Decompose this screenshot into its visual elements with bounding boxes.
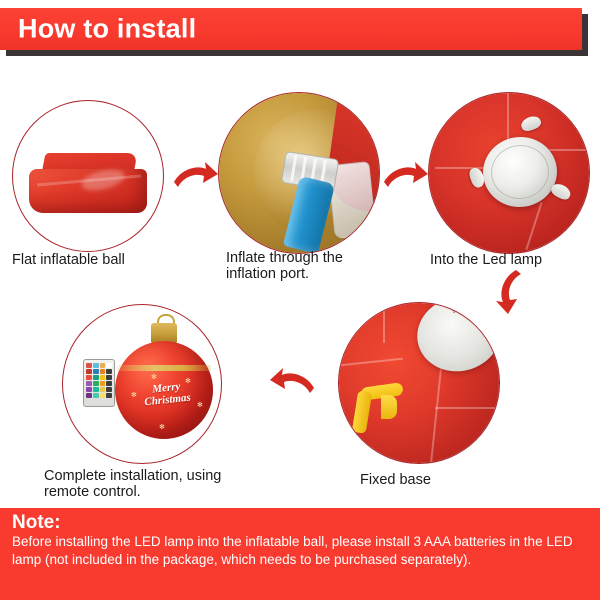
snowflake-icon: ✻	[159, 423, 165, 431]
arrow-right-icon	[382, 160, 430, 200]
remote-color-key[interactable]	[106, 393, 112, 398]
lamp-rohs-label: RoHS	[445, 302, 469, 348]
remote-color-key[interactable]	[86, 363, 92, 368]
flat-inflatable-ball-illustration	[29, 153, 147, 215]
step-4-caption: Complete installation, using remote cont…	[44, 468, 274, 500]
remote-color-key[interactable]	[106, 369, 112, 374]
base-seam	[507, 93, 509, 141]
note-title: Note:	[12, 512, 61, 534]
step-2-caption: Inflate through the inflation port.	[226, 250, 406, 282]
remote-key-grid[interactable]	[86, 363, 112, 398]
remote-color-key[interactable]	[106, 381, 112, 386]
remote-color-key[interactable]	[93, 381, 99, 386]
step-3-caption: Into the Led lamp	[430, 252, 600, 268]
step-2-image	[218, 92, 380, 254]
header-bar: How to install	[0, 8, 582, 50]
remote-color-key[interactable]	[100, 387, 106, 392]
remote-color-key[interactable]	[100, 375, 106, 380]
yellow-stake-anchor	[351, 385, 405, 431]
step-1-image	[12, 100, 164, 252]
remote-color-key[interactable]	[100, 393, 106, 398]
ornament-gold-cap	[151, 323, 177, 343]
remote-color-key[interactable]	[93, 369, 99, 374]
remote-color-key[interactable]	[86, 381, 92, 386]
base-seam	[549, 149, 589, 151]
remote-color-key[interactable]	[106, 363, 112, 368]
stake-leg	[352, 390, 372, 434]
arrow-step3-to-step5	[496, 268, 536, 321]
remote-color-key[interactable]	[106, 375, 112, 380]
remote-color-key[interactable]	[106, 387, 112, 392]
stake-hook	[381, 395, 397, 419]
remote-color-key[interactable]	[86, 375, 92, 380]
remote-color-key[interactable]	[86, 393, 92, 398]
step-3-image	[428, 92, 590, 254]
remote-color-key[interactable]	[86, 387, 92, 392]
note-banner: Note: Before installing the LED lamp int…	[0, 508, 600, 600]
arrow-step1-to-step2	[172, 160, 220, 205]
step-1-caption: Flat inflatable ball	[12, 252, 202, 268]
remote-color-key[interactable]	[93, 375, 99, 380]
led-lamp-ring	[488, 141, 553, 203]
remote-control[interactable]	[83, 359, 115, 407]
page-title: How to install	[18, 14, 196, 45]
header-banner: How to install	[0, 8, 588, 50]
remote-color-key[interactable]	[86, 369, 92, 374]
arrow-down-icon	[496, 268, 536, 316]
remote-color-key[interactable]	[93, 393, 99, 398]
snowflake-icon: ✻	[151, 373, 157, 381]
step-5-image: RoHS	[338, 302, 500, 464]
arrow-right-icon	[172, 160, 220, 200]
step-4-image: ✻ ✻ ✻ ✻ ✻ Merry Christmas	[62, 304, 222, 464]
base-seam	[383, 303, 385, 343]
arrow-left-icon	[268, 366, 316, 406]
step-5-caption: Fixed base	[360, 472, 520, 488]
remote-color-key[interactable]	[100, 363, 106, 368]
note-body: Before installing the LED lamp into the …	[12, 533, 590, 569]
arrow-step2-to-step3	[382, 160, 430, 205]
valve-rib	[290, 155, 297, 181]
ornament-gold-stripe	[117, 365, 211, 371]
arrow-step5-to-step4	[268, 366, 316, 411]
base-seam	[435, 407, 499, 409]
remote-color-key[interactable]	[100, 369, 106, 374]
remote-color-key[interactable]	[93, 387, 99, 392]
remote-color-key[interactable]	[100, 381, 106, 386]
remote-color-key[interactable]	[93, 363, 99, 368]
how-to-install-infographic: How to install Flat inflatable ball	[0, 0, 600, 600]
